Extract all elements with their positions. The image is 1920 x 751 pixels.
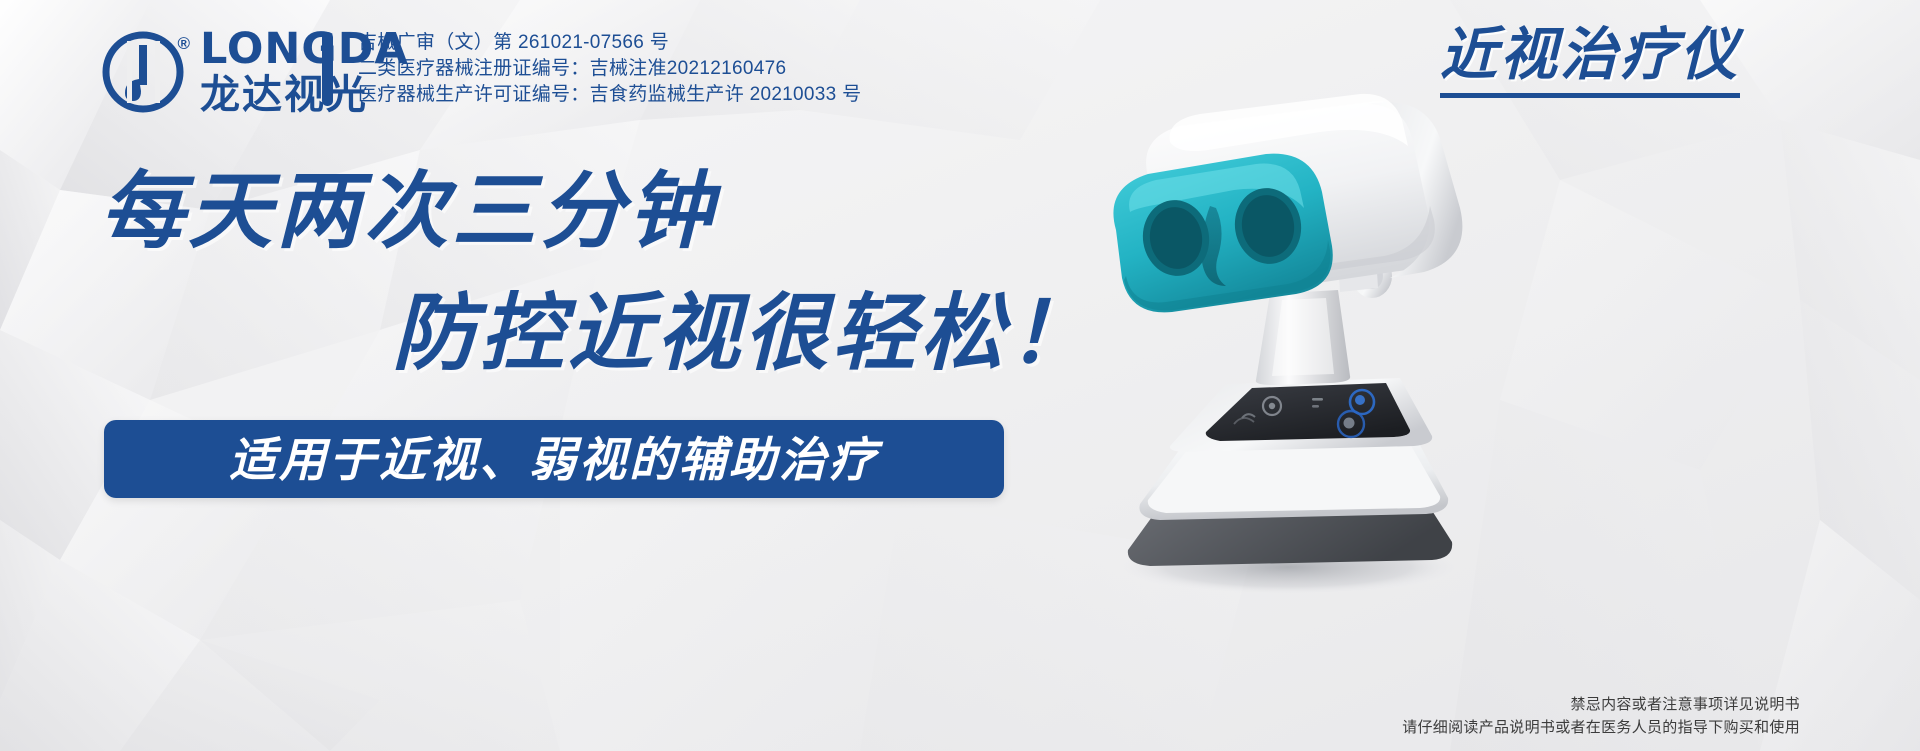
footer-disclaimer: 禁忌内容或者注意事项详见说明书 请仔细阅读产品说明书或者在医务人员的指导下购买和… xyxy=(1402,693,1800,739)
certification-line-3: 医疗器械生产许可证编号：吉食药监械生产许 20210033 号 xyxy=(358,82,861,108)
headline-line-1: 每天两次三分钟 xyxy=(100,166,716,257)
product-image-myopia-treatment-device xyxy=(1020,80,1580,610)
disclaimer-line-2: 请仔细阅读产品说明书或者在医务人员的指导下购买和使用 xyxy=(1402,716,1800,739)
longda-circle-icon: ® xyxy=(100,29,186,115)
cta-banner: 适用于近视、弱视的辅助治疗 xyxy=(104,420,1004,498)
headline-line-2: 防控近视很轻松！ xyxy=(392,288,1096,379)
disclaimer-line-1: 禁忌内容或者注意事项详见说明书 xyxy=(1402,693,1800,716)
cta-text: 适用于近视、弱视的辅助治疗 xyxy=(229,436,879,483)
advertising-banner: ® LONGDA 龙达视光 吉械广审（文）第 261021-07566 号 二类… xyxy=(0,0,1920,751)
certification-info: 吉械广审（文）第 261021-07566 号 二类医疗器械注册证编号：吉械注准… xyxy=(358,30,861,108)
registered-trademark-icon: ® xyxy=(177,35,190,52)
certification-line-2: 二类医疗器械注册证编号：吉械注准20212160476 xyxy=(358,56,861,82)
certification-line-1: 吉械广审（文）第 261021-07566 号 xyxy=(358,30,861,56)
vertical-divider xyxy=(322,32,333,106)
